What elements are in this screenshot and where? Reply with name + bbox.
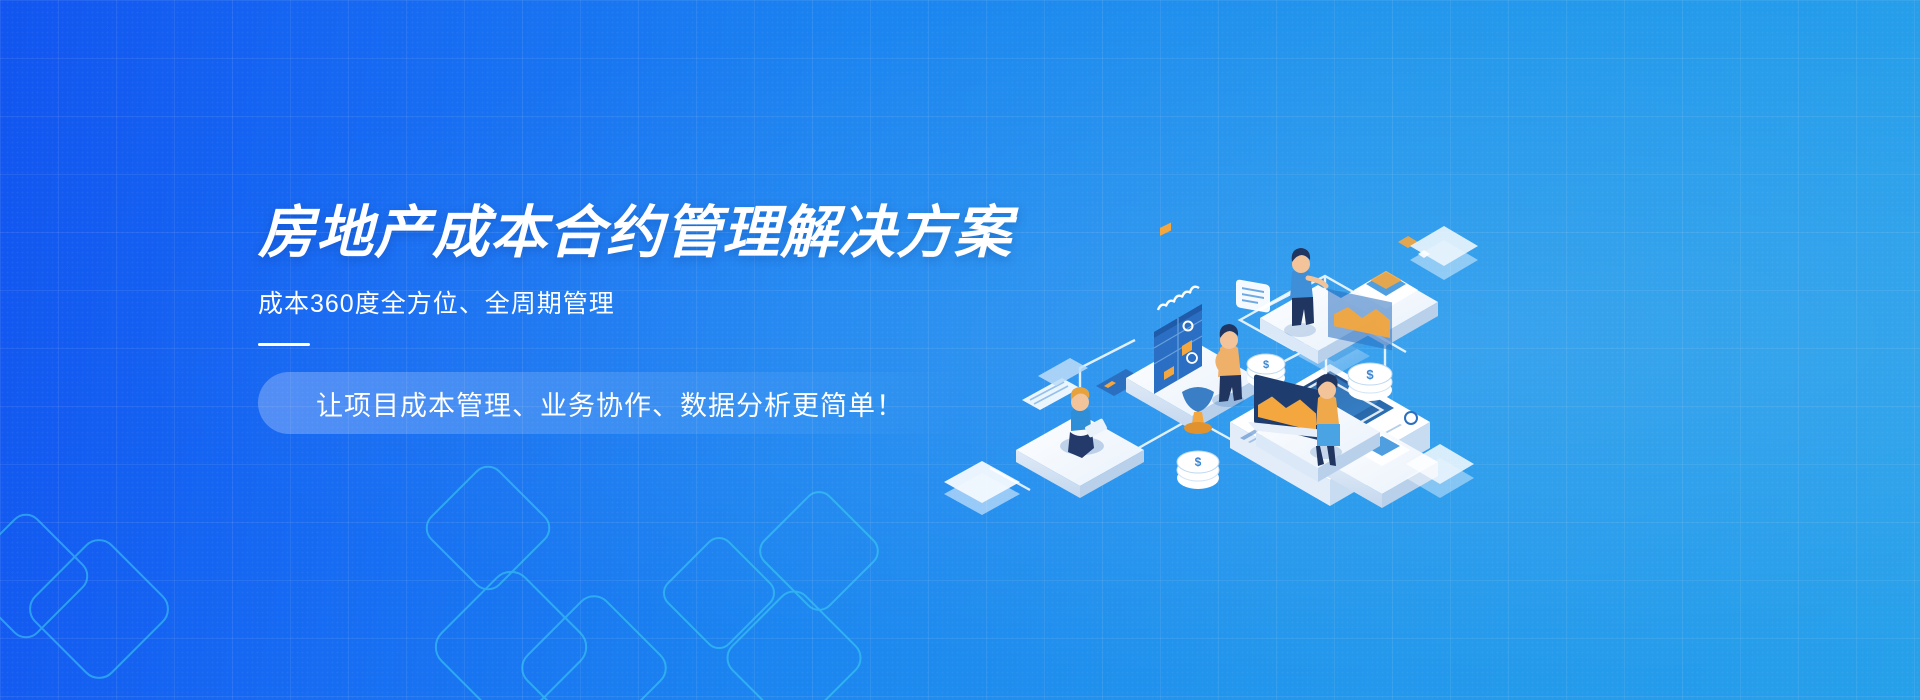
document-sheet-icon: [1236, 279, 1270, 313]
svg-text:$: $: [1195, 455, 1202, 469]
hero-banner: 房地产成本合约管理解决方案 成本360度全方位、全周期管理 让项目成本管理、业务…: [0, 0, 1920, 700]
tagline-pill: 让项目成本管理、业务协作、数据分析更简单！: [258, 372, 964, 434]
coin-stack-icon-3: $: [1348, 363, 1392, 401]
svg-text:$: $: [1366, 367, 1374, 382]
platform-tile: [1406, 226, 1478, 498]
platform-tile: [944, 461, 1020, 515]
hero-illustration-right: $: [1230, 200, 1590, 520]
tagline-text: 让项目成本管理、业务协作、数据分析更简单！: [316, 384, 904, 423]
calendar-checklist-board: [1154, 222, 1202, 394]
title-divider: [258, 343, 310, 346]
coin-stack-icon-2: $: [1177, 451, 1219, 489]
